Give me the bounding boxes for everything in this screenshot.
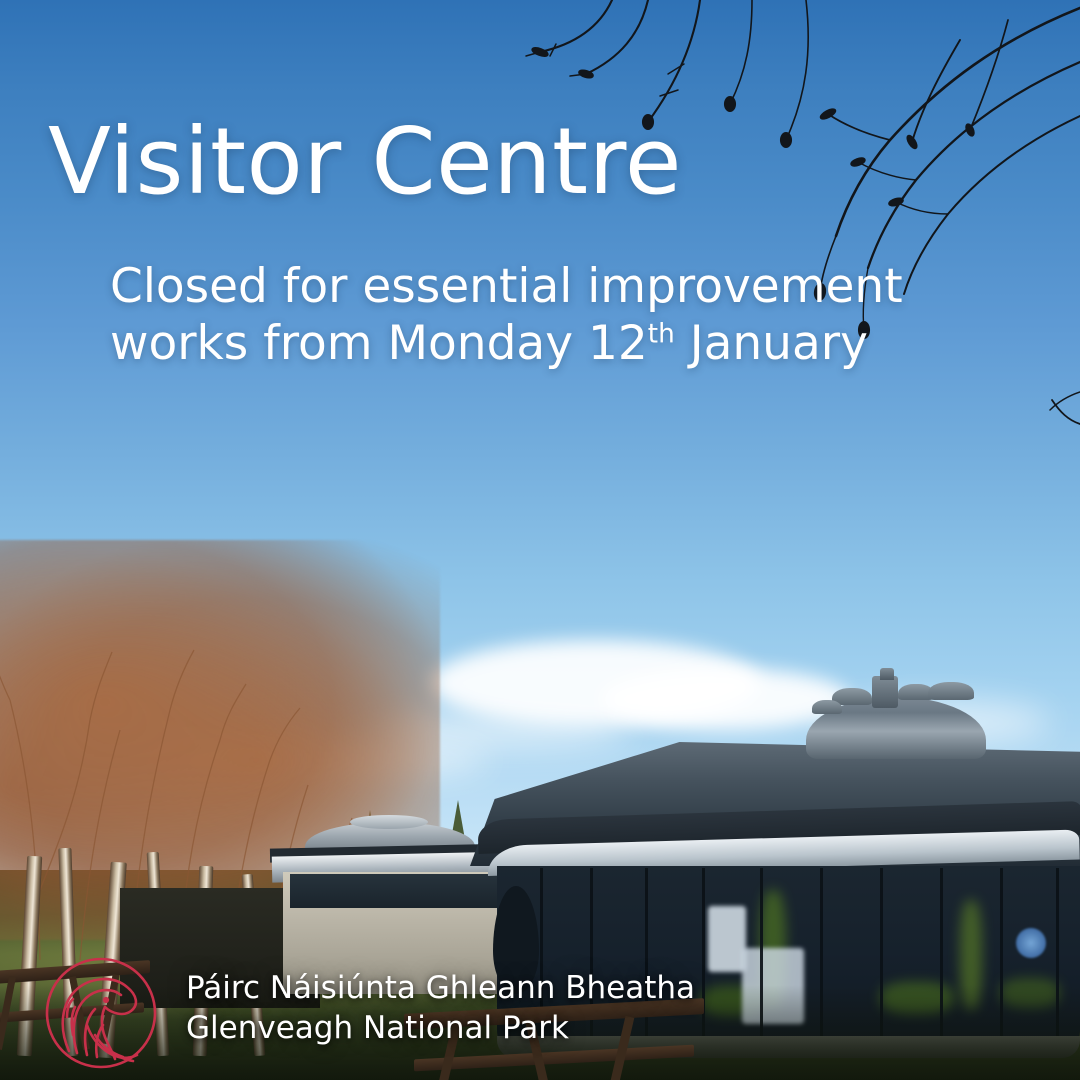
closure-notice-line-1: Closed for essential improvement xyxy=(110,258,903,315)
annex-roof-drum-cap xyxy=(350,815,428,829)
closure-date-prefix: works from Monday 12 xyxy=(110,316,648,371)
park-name-english: Glenveagh National Park xyxy=(186,1008,695,1048)
closure-notice: Closed for essential improvement works f… xyxy=(110,258,903,373)
park-name-irish: Páirc Náisiúnta Ghleann Bheatha xyxy=(186,968,695,1008)
park-branding: Páirc Náisiúnta Ghleann Bheatha Glenveag… xyxy=(186,968,695,1049)
closure-date-ordinal-suffix: th xyxy=(648,320,675,350)
roof-vent-far-right xyxy=(812,700,842,714)
interior-white-sheet-1 xyxy=(708,906,746,972)
poster-canvas: Visitor Centre Closed for essential impr… xyxy=(0,0,1080,1080)
roof-stack-small xyxy=(880,668,894,680)
cloud-secondary xyxy=(600,668,850,730)
page-title: Visitor Centre xyxy=(48,116,682,208)
roof-stack-main xyxy=(872,676,898,708)
closure-notice-line-2: works from Monday 12th January xyxy=(110,315,903,372)
glenveagh-bird-emblem-logo xyxy=(43,955,159,1071)
interior-blue-disc-sign xyxy=(1016,928,1046,958)
annex-clerestory-windows xyxy=(290,874,512,908)
roof-vent-right xyxy=(928,682,974,700)
closure-date-month: January xyxy=(675,316,868,371)
